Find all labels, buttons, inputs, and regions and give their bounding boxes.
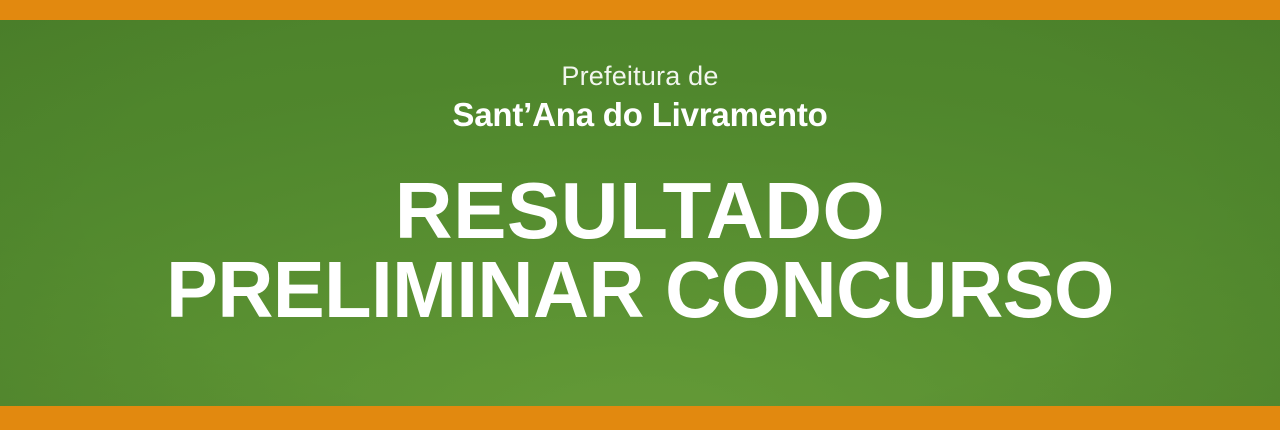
banner-content: Prefeitura de Sant’Ana do Livramento RES… bbox=[0, 20, 1280, 406]
headline-line-1: RESULTADO bbox=[0, 172, 1280, 250]
bottom-accent-bar bbox=[0, 406, 1280, 430]
announcement-banner: Prefeitura de Sant’Ana do Livramento RES… bbox=[0, 0, 1280, 430]
city-name: Sant’Ana do Livramento bbox=[0, 90, 1280, 133]
page-title: RESULTADO PRELIMINAR CONCURSO bbox=[0, 134, 1280, 330]
headline-line-2: PRELIMINAR CONCURSO bbox=[19, 250, 1261, 330]
prefecture-kicker: Prefeitura de bbox=[0, 20, 1280, 90]
top-accent-bar bbox=[0, 0, 1280, 20]
